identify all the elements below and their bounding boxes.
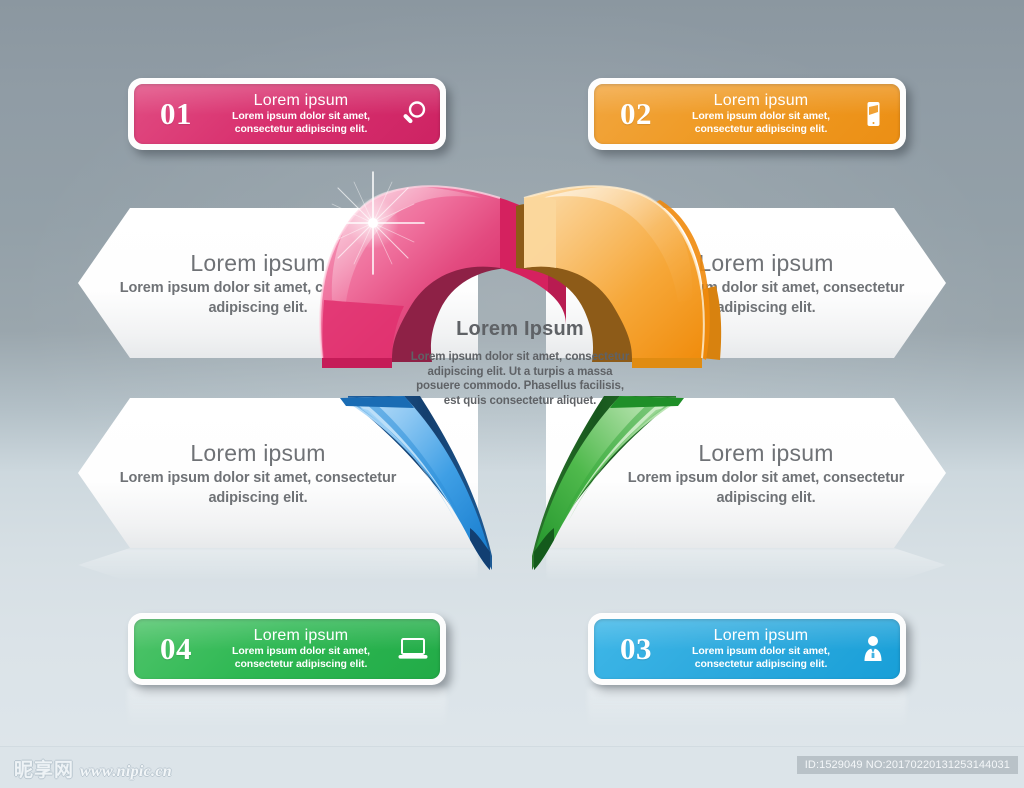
badge-text: Lorem ipsum Lorem ipsum dolor sit amet, …	[218, 627, 386, 671]
banner-title: Lorem ipsum	[118, 248, 398, 278]
magnifier-icon	[386, 94, 440, 134]
badge-text: Lorem ipsum Lorem ipsum dolor sit amet, …	[678, 92, 846, 136]
badge-inner: 03 Lorem ipsum Lorem ipsum dolor sit ame…	[594, 619, 900, 679]
badge-04[interactable]: 04 Lorem ipsum Lorem ipsum dolor sit ame…	[128, 613, 446, 685]
banner-subtitle: Lorem ipsum dolor sit amet, consectetur …	[118, 278, 398, 318]
banner-title: Lorem ipsum	[118, 438, 398, 468]
businessman-icon	[846, 629, 900, 669]
badge-title: Lorem ipsum	[218, 92, 384, 110]
banner-subtitle: Lorem ipsum dolor sit amet, consectetur …	[626, 278, 906, 318]
center-text-block: Lorem Ipsum Lorem ipsum dolor sit amet, …	[410, 316, 630, 408]
badge-reflection	[128, 688, 446, 728]
badge-reflection	[588, 688, 906, 728]
banner-bottom-left[interactable]: Lorem ipsum Lorem ipsum dolor sit amet, …	[78, 398, 478, 548]
center-title: Lorem Ipsum	[410, 316, 630, 342]
badge-number: 02	[594, 96, 678, 132]
smartphone-icon	[846, 94, 900, 134]
badge-inner: 02 Lorem ipsum Lorem ipsum dolor sit ame…	[594, 84, 900, 144]
footer-bar: 昵享网 www.nipic.cn ID:1529049 NO:201702201…	[0, 746, 1024, 788]
badge-03[interactable]: 03 Lorem ipsum Lorem ipsum dolor sit ame…	[588, 613, 906, 685]
badge-inner: 01 Lorem ipsum Lorem ipsum dolor sit ame…	[134, 84, 440, 144]
badge-subtitle: Lorem ipsum dolor sit amet, consectetur …	[218, 645, 384, 671]
badge-title: Lorem ipsum	[678, 92, 844, 110]
banner-text: Lorem ipsum Lorem ipsum dolor sit amet, …	[546, 248, 946, 318]
watermark-logo-text: 昵享网	[14, 755, 74, 782]
badge-title: Lorem ipsum	[678, 627, 844, 645]
banner-title: Lorem ipsum	[626, 438, 906, 468]
banner-bottom-right[interactable]: Lorem ipsum Lorem ipsum dolor sit amet, …	[546, 398, 946, 548]
badge-inner: 04 Lorem ipsum Lorem ipsum dolor sit ame…	[134, 619, 440, 679]
badge-text: Lorem ipsum Lorem ipsum dolor sit amet, …	[218, 92, 386, 136]
badge-number: 04	[134, 631, 218, 667]
badge-number: 03	[594, 631, 678, 667]
badge-subtitle: Lorem ipsum dolor sit amet, consectetur …	[678, 110, 844, 136]
watermark: 昵享网 www.nipic.cn	[14, 755, 172, 782]
laptop-icon	[386, 629, 440, 669]
image-id-tag: ID:1529049 NO:20170220131253144031	[797, 756, 1018, 774]
banner-reflection	[78, 548, 478, 582]
banner-title: Lorem ipsum	[626, 248, 906, 278]
badge-subtitle: Lorem ipsum dolor sit amet, consectetur …	[218, 110, 384, 136]
watermark-url: www.nipic.cn	[80, 763, 172, 782]
badge-01[interactable]: 01 Lorem ipsum Lorem ipsum dolor sit ame…	[128, 78, 446, 150]
badge-title: Lorem ipsum	[218, 627, 384, 645]
badge-02[interactable]: 02 Lorem ipsum Lorem ipsum dolor sit ame…	[588, 78, 906, 150]
banner-subtitle: Lorem ipsum dolor sit amet, consectetur …	[118, 468, 398, 508]
center-body: Lorem ipsum dolor sit amet, consectetur …	[410, 350, 630, 408]
banner-text: Lorem ipsum Lorem ipsum dolor sit amet, …	[546, 438, 946, 508]
banner-reflection	[546, 548, 946, 582]
banner-text: Lorem ipsum Lorem ipsum dolor sit amet, …	[78, 248, 478, 318]
badge-text: Lorem ipsum Lorem ipsum dolor sit amet, …	[678, 627, 846, 671]
badge-subtitle: Lorem ipsum dolor sit amet, consectetur …	[678, 645, 844, 671]
infographic-canvas: Lorem ipsum Lorem ipsum dolor sit amet, …	[0, 0, 1024, 788]
banner-subtitle: Lorem ipsum dolor sit amet, consectetur …	[626, 468, 906, 508]
badge-number: 01	[134, 96, 218, 132]
banner-text: Lorem ipsum Lorem ipsum dolor sit amet, …	[78, 438, 478, 508]
